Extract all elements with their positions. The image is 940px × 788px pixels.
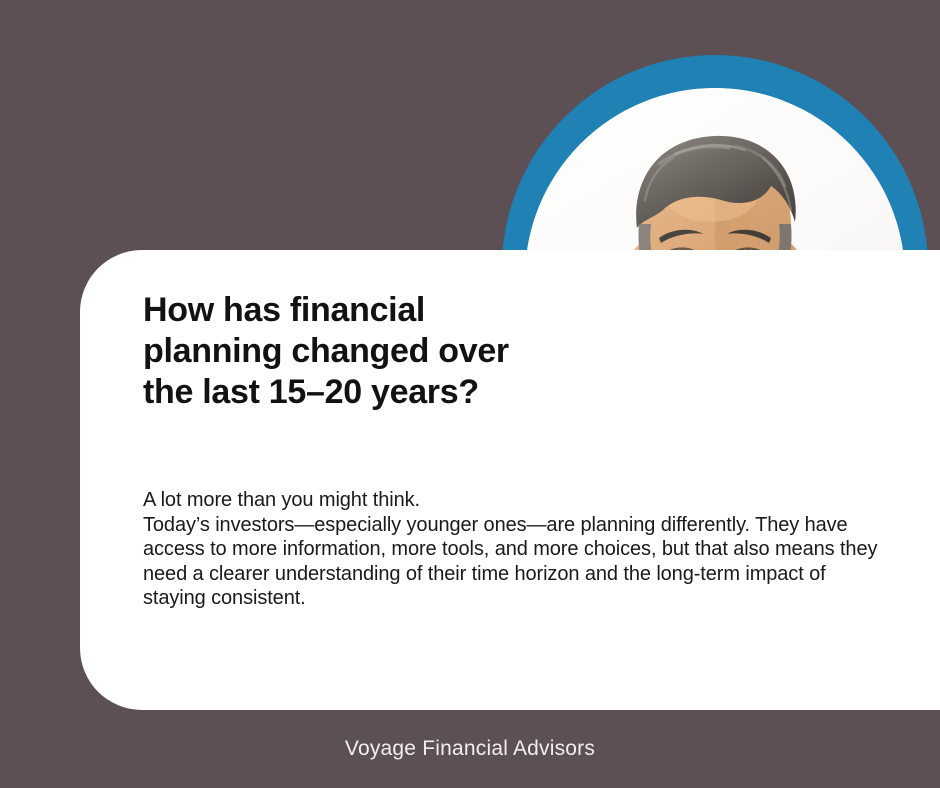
brand-name: Voyage Financial Advisors — [345, 737, 595, 761]
footer-bar: Voyage Financial Advisors — [0, 710, 940, 788]
content-card: How has financial planning changed over … — [80, 250, 940, 710]
social-post-canvas: How has financial planning changed over … — [0, 0, 940, 788]
body-text: A lot more than you might think. Today’s… — [143, 488, 883, 611]
page-title: How has financial planning changed over … — [143, 290, 563, 413]
